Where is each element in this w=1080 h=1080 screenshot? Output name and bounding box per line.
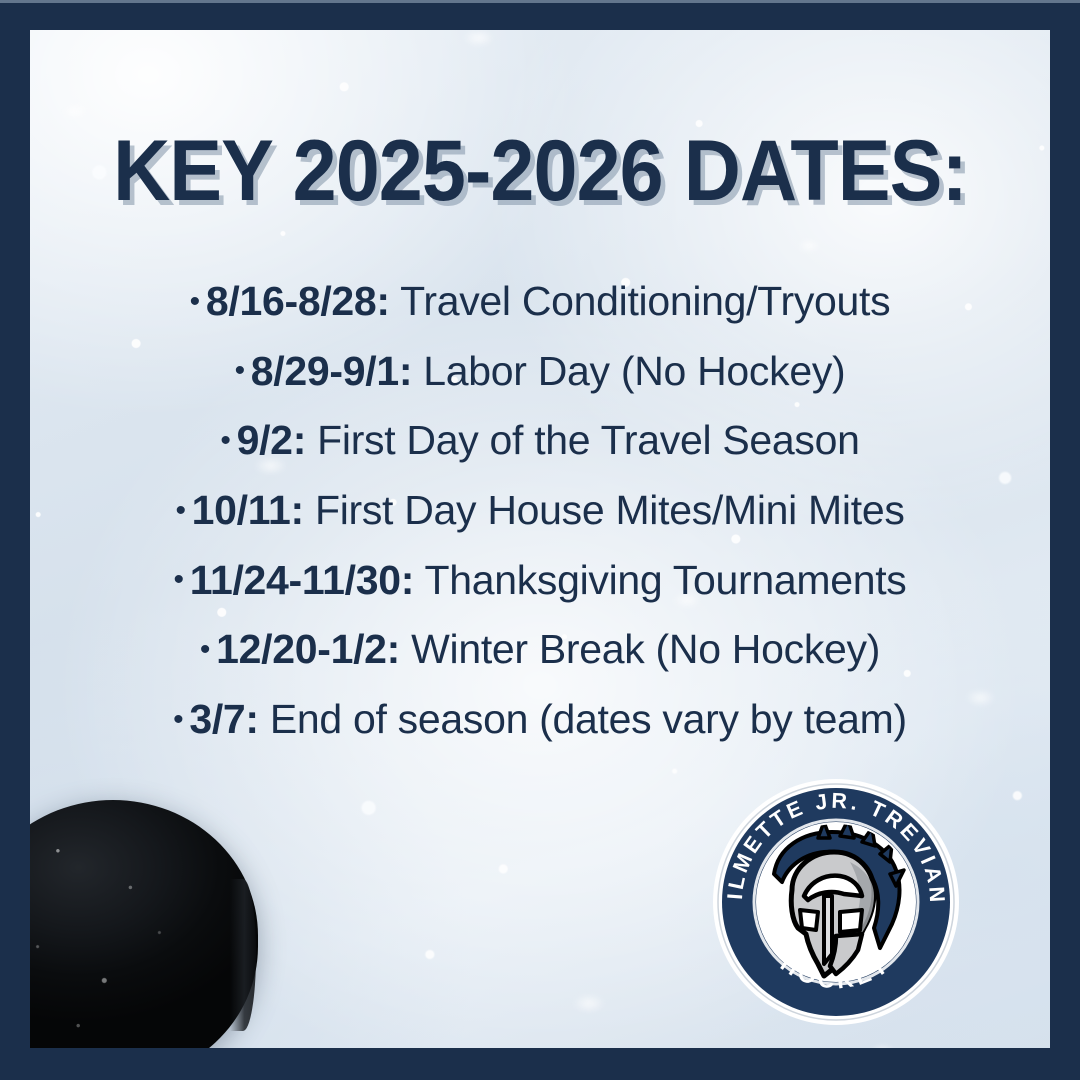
date-description: First Day of the Travel Season <box>317 417 859 463</box>
bullet-icon: • <box>173 703 183 736</box>
date-label: 8/29-9/1: <box>251 348 412 394</box>
date-label: 8/16-8/28: <box>206 278 390 324</box>
date-description: End of season (dates vary by team) <box>270 696 907 742</box>
page-title: KEY 2025-2026 DATES: <box>71 128 1009 214</box>
date-description: Thanksgiving Tournaments <box>424 557 906 603</box>
list-item: •12/20-1/2: Winter Break (No Hockey) <box>30 616 1050 686</box>
poster-canvas: KEY 2025-2026 DATES: •8/16-8/28: Travel … <box>0 0 1080 1080</box>
bullet-icon: • <box>175 494 185 527</box>
bullet-icon: • <box>220 424 230 457</box>
list-item: •9/2: First Day of the Travel Season <box>30 407 1050 477</box>
ice-background: KEY 2025-2026 DATES: •8/16-8/28: Travel … <box>30 30 1050 1048</box>
hockey-puck <box>30 800 258 1048</box>
bullet-icon: • <box>174 563 184 596</box>
date-description: Labor Day (No Hockey) <box>423 348 845 394</box>
team-logo: WILMETTE JR. TREVIANS HOCKEY <box>712 778 960 1026</box>
puck-surface-specks <box>30 800 258 1048</box>
list-item: •11/24-11/30: Thanksgiving Tournaments <box>30 547 1050 617</box>
date-description: Travel Conditioning/Tryouts <box>400 278 890 324</box>
bullet-icon: • <box>200 633 210 666</box>
date-description: Winter Break (No Hockey) <box>411 626 880 672</box>
bullet-icon: • <box>235 354 245 387</box>
date-description: First Day House Mites/Mini Mites <box>315 487 905 533</box>
key-dates-list: •8/16-8/28: Travel Conditioning/Tryouts … <box>30 268 1050 756</box>
list-item: •3/7: End of season (dates vary by team) <box>30 686 1050 756</box>
date-label: 3/7: <box>189 696 258 742</box>
team-logo-svg: WILMETTE JR. TREVIANS HOCKEY <box>712 778 960 1026</box>
date-label: 12/20-1/2: <box>216 626 400 672</box>
list-item: •8/29-9/1: Labor Day (No Hockey) <box>30 338 1050 408</box>
top-edge-hairline <box>0 0 1080 3</box>
date-label: 11/24-11/30: <box>190 557 414 603</box>
date-label: 9/2: <box>237 417 306 463</box>
bullet-icon: • <box>190 285 200 318</box>
list-item: •8/16-8/28: Travel Conditioning/Tryouts <box>30 268 1050 338</box>
date-label: 10/11: <box>192 487 304 533</box>
puck-edge-highlight <box>230 879 256 1031</box>
list-item: •10/11: First Day House Mites/Mini Mites <box>30 477 1050 547</box>
